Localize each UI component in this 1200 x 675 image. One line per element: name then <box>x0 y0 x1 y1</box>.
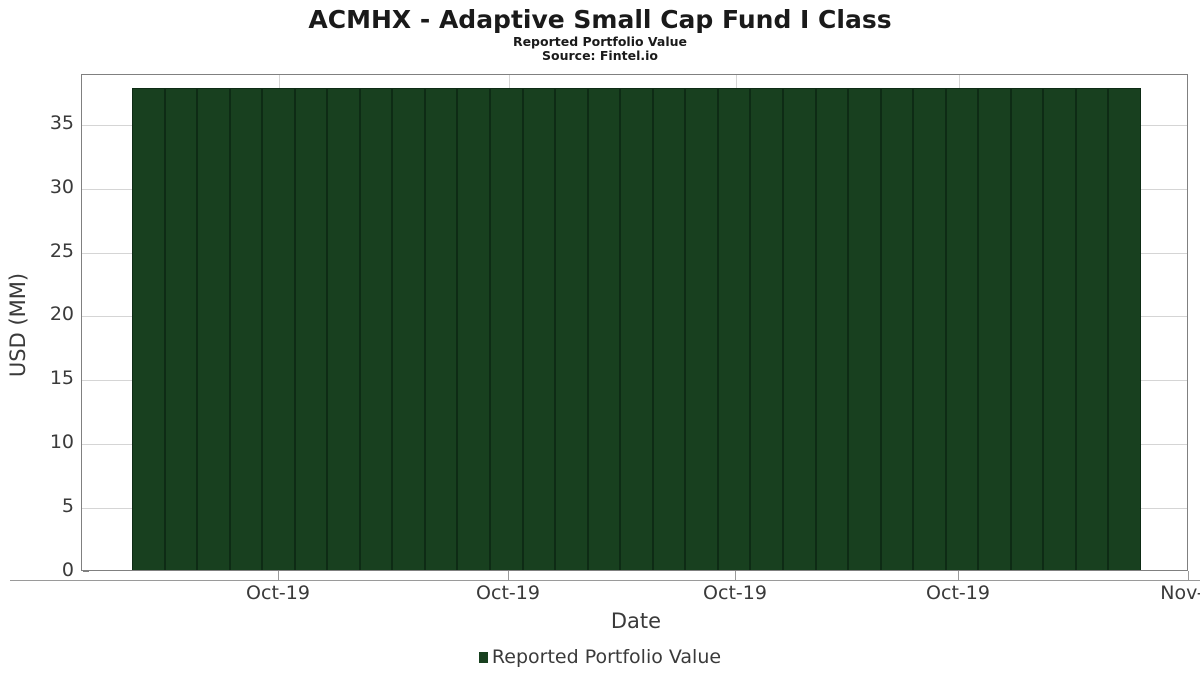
y-tick-label: 10 <box>12 433 74 452</box>
bar-series-reported-portfolio-value <box>82 75 1187 570</box>
bar[interactable] <box>946 88 979 570</box>
bar[interactable] <box>588 88 621 570</box>
plot-area <box>81 74 1188 571</box>
y-tick-label: 35 <box>12 114 74 133</box>
legend-item[interactable]: Reported Portfolio Value <box>479 646 721 668</box>
bar[interactable] <box>132 88 165 570</box>
x-tick-mark <box>1188 571 1189 580</box>
y-tick-label: 20 <box>12 305 74 324</box>
y-tick-label: 5 <box>12 497 74 516</box>
chart-container: ACMHX - Adaptive Small Cap Fund I Class … <box>0 0 1200 675</box>
legend-swatch-icon <box>479 652 488 663</box>
bar[interactable] <box>978 88 1011 570</box>
x-tick-label: Nov-1 <box>1108 581 1200 605</box>
y-tick-mark <box>83 571 89 572</box>
bar[interactable] <box>1043 88 1076 570</box>
bar[interactable] <box>783 88 816 570</box>
x-tick-mark <box>508 571 509 580</box>
chart-source-attribution: Source: Fintel.io <box>0 49 1200 63</box>
bar[interactable] <box>816 88 849 570</box>
legend-item-label: Reported Portfolio Value <box>492 646 721 668</box>
chart-legend: Reported Portfolio Value <box>0 646 1200 668</box>
x-tick-label: Oct-19 <box>655 581 815 605</box>
bar[interactable] <box>913 88 946 570</box>
bar[interactable] <box>327 88 360 570</box>
bar[interactable] <box>262 88 295 570</box>
bar[interactable] <box>620 88 653 570</box>
x-tick-label: Oct-19 <box>428 581 588 605</box>
bar[interactable] <box>718 88 751 570</box>
bar[interactable] <box>425 88 458 570</box>
bar[interactable] <box>1108 88 1141 570</box>
bar[interactable] <box>457 88 490 570</box>
bar[interactable] <box>360 88 393 570</box>
y-tick-label: 0 <box>12 561 74 580</box>
bar[interactable] <box>523 88 556 570</box>
chart-header: ACMHX - Adaptive Small Cap Fund I Class … <box>0 0 1200 63</box>
bar[interactable] <box>1011 88 1044 570</box>
y-tick-label: 15 <box>12 369 74 388</box>
chart-subtitle: Reported Portfolio Value <box>0 35 1200 49</box>
bar[interactable] <box>750 88 783 570</box>
bar[interactable] <box>295 88 328 570</box>
bar[interactable] <box>197 88 230 570</box>
bar[interactable] <box>685 88 718 570</box>
x-tick-label: Oct-19 <box>198 581 358 605</box>
bar[interactable] <box>165 88 198 570</box>
bar[interactable] <box>1076 88 1109 570</box>
x-axis-title: Date <box>0 609 1200 633</box>
y-tick-label: 30 <box>12 178 74 197</box>
plot-inner <box>82 75 1187 570</box>
y-tick-label: 25 <box>12 242 74 261</box>
bar[interactable] <box>392 88 425 570</box>
bar[interactable] <box>653 88 686 570</box>
x-tick-mark <box>735 571 736 580</box>
x-tick-mark <box>278 571 279 580</box>
bar[interactable] <box>555 88 588 570</box>
chart-title: ACMHX - Adaptive Small Cap Fund I Class <box>0 5 1200 35</box>
bar[interactable] <box>848 88 881 570</box>
x-tick-mark <box>958 571 959 580</box>
x-tick-label: Oct-19 <box>878 581 1038 605</box>
bar[interactable] <box>881 88 914 570</box>
y-axis-tick-labels: 05101520253035 <box>8 0 74 675</box>
bar[interactable] <box>490 88 523 570</box>
bar[interactable] <box>230 88 263 570</box>
